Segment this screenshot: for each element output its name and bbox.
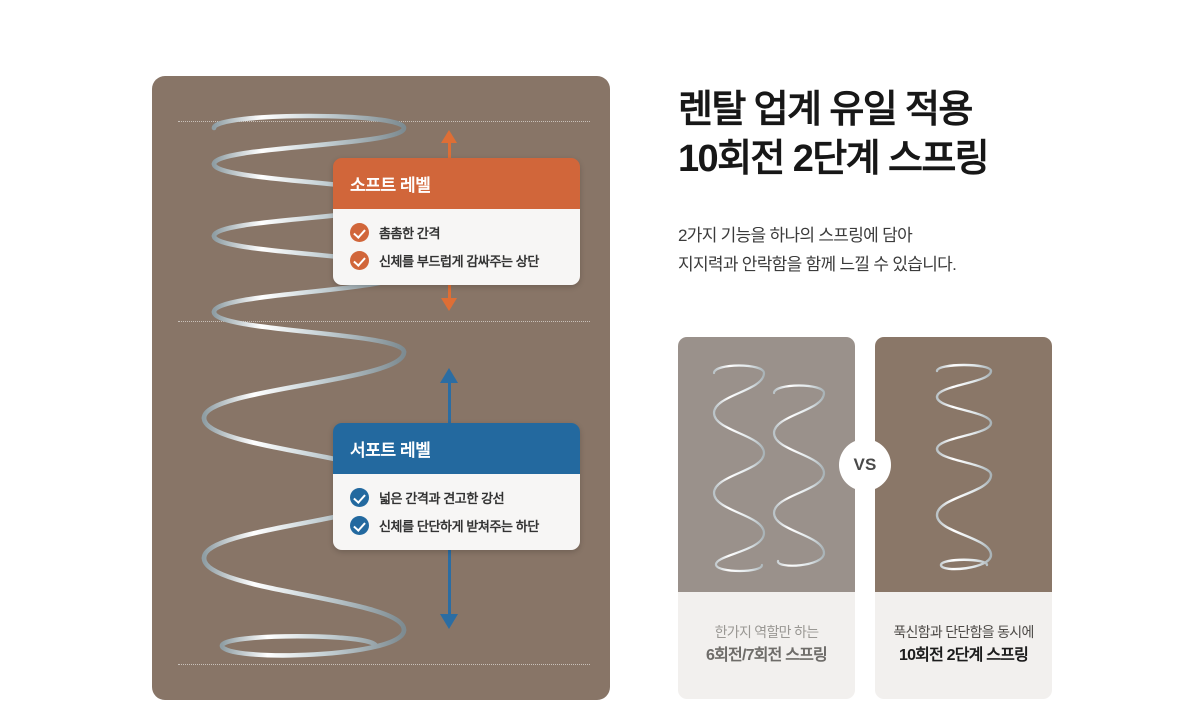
caption-subtitle: 푹신함과 단단함을 동시에 [875, 622, 1052, 643]
check-circle-icon [350, 488, 369, 507]
arrow-down-icon-support [440, 614, 458, 629]
comparison-card-standard: 한가지 역할만 하는 6회전/7회전 스프링 [678, 337, 855, 699]
two-stage-spring-image [875, 337, 1052, 592]
feature-label: 신체를 단단하게 받쳐주는 하단 [379, 516, 539, 535]
support-level-card: 서포트 레벨 넓은 간격과 견고한 강선 신체를 단단하게 받쳐주는 하단 [333, 423, 580, 550]
list-item: 넓은 간격과 견고한 강선 [350, 488, 580, 507]
subheading-description: 2가지 기능을 하나의 스프링에 담아 지지력과 안락함을 함께 느낄 수 있습… [678, 222, 956, 279]
page-title: 렌탈 업계 유일 적용 10회전 2단계 스프링 [678, 86, 988, 183]
comparison-card-two-stage: 푹신함과 단단함을 동시에 10회전 2단계 스프링 [875, 337, 1052, 699]
soft-level-title: 소프트 레벨 [333, 158, 580, 209]
standard-spring-image [678, 337, 855, 592]
caption-title: 10회전 2단계 스프링 [875, 643, 1052, 669]
list-item: 촘촘한 간격 [350, 223, 580, 242]
caption-subtitle: 한가지 역할만 하는 [678, 622, 855, 643]
caption-title: 6회전/7회전 스프링 [678, 643, 855, 669]
support-level-feature-list: 넓은 간격과 견고한 강선 신체를 단단하게 받쳐주는 하단 [333, 474, 580, 550]
soft-level-card: 소프트 레벨 촘촘한 간격 신체를 부드럽게 감싸주는 상단 [333, 158, 580, 285]
standard-spring-caption: 한가지 역할만 하는 6회전/7회전 스프링 [678, 592, 855, 699]
feature-label: 신체를 부드럽게 감싸주는 상단 [379, 251, 539, 270]
two-stage-spring-icon-small [875, 337, 1052, 592]
spring-illustration-panel: 소프트 레벨 촘촘한 간격 신체를 부드럽게 감싸주는 상단 서포트 레벨 넓은… [152, 76, 610, 700]
comparison-section: 한가지 역할만 하는 6회전/7회전 스프링 푹신함과 단단함을 동시에 10회… [678, 337, 1052, 699]
check-circle-icon [350, 223, 369, 242]
check-circle-icon [350, 516, 369, 535]
two-stage-spring-caption: 푹신함과 단단함을 동시에 10회전 2단계 스프링 [875, 592, 1052, 699]
arrow-down-stem-soft [448, 283, 451, 300]
feature-label: 넓은 간격과 견고한 강선 [379, 488, 504, 507]
vs-badge: VS [839, 439, 891, 491]
standard-springs-icon [678, 337, 855, 592]
list-item: 신체를 부드럽게 감싸주는 상단 [350, 251, 580, 270]
check-circle-icon [350, 251, 369, 270]
soft-level-feature-list: 촘촘한 간격 신체를 부드럽게 감싸주는 상단 [333, 209, 580, 285]
support-level-title: 서포트 레벨 [333, 423, 580, 474]
content-column: 렌탈 업계 유일 적용 10회전 2단계 스프링 2가지 기능을 하나의 스프링… [678, 0, 1178, 705]
list-item: 신체를 단단하게 받쳐주는 하단 [350, 516, 580, 535]
feature-label: 촘촘한 간격 [379, 223, 440, 242]
